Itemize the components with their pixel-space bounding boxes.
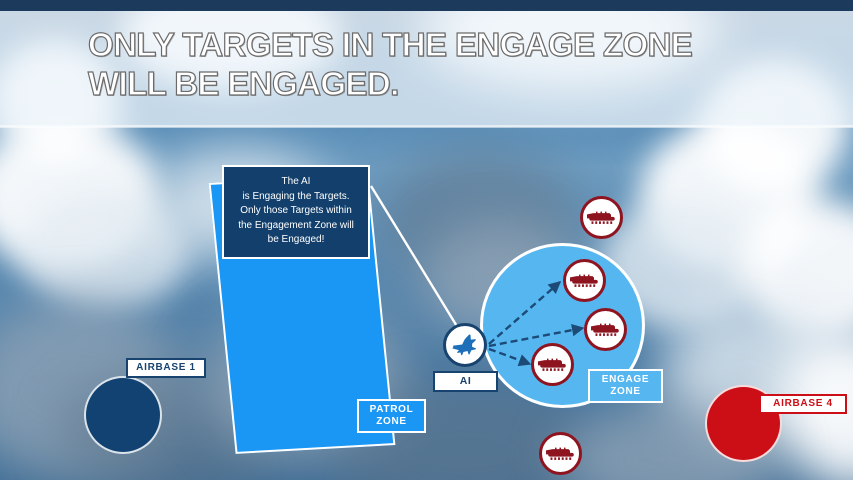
label-airbase-4[interactable]: AIRBASE 4: [759, 394, 847, 414]
title-band-underline: [0, 125, 853, 128]
callout-line-5: be Engaged!: [230, 233, 362, 248]
airbase-1-circle[interactable]: [84, 376, 162, 454]
slide-canvas: The AI is Engaging the Targets. Only tho…: [0, 0, 853, 480]
top-accent-strip: [0, 0, 853, 11]
fighter-jet-icon: [450, 330, 480, 360]
callout-line-3: Only those Targets within: [230, 204, 362, 219]
target-icon-outside-2[interactable]: [539, 432, 582, 475]
label-airbase-1[interactable]: AIRBASE 1: [126, 358, 206, 378]
target-icon-inside-1[interactable]: [563, 259, 606, 302]
target-icon-inside-3[interactable]: [531, 343, 574, 386]
label-engage-zone-line1: ENGAGE: [597, 374, 654, 386]
page-title: ONLY TARGETS IN THE ENGAGE ZONE WILL BE …: [88, 26, 808, 104]
label-patrol-zone-line2: ZONE: [366, 416, 417, 428]
label-engage-zone[interactable]: ENGAGE ZONE: [588, 369, 663, 403]
page-title-line-1: ONLY TARGETS IN THE ENGAGE ZONE: [88, 26, 808, 65]
target-icon-outside-1[interactable]: [580, 196, 623, 239]
ai-callout-box: The AI is Engaging the Targets. Only tho…: [222, 165, 370, 259]
label-patrol-zone-line1: PATROL: [366, 404, 417, 416]
label-ai[interactable]: AI: [433, 371, 498, 392]
page-title-line-2: WILL BE ENGAGED.: [88, 65, 808, 104]
tank-target-icon: [570, 273, 600, 289]
target-icon-inside-2[interactable]: [584, 308, 627, 351]
tank-target-icon: [546, 446, 576, 462]
label-engage-zone-line2: ZONE: [597, 386, 654, 398]
ai-aircraft-node[interactable]: [443, 323, 487, 367]
tank-target-icon: [587, 210, 617, 226]
label-patrol-zone[interactable]: PATROL ZONE: [357, 399, 426, 433]
callout-line-1: The AI: [230, 175, 362, 190]
callout-line-4: the Engagement Zone will: [230, 219, 362, 234]
tank-target-icon: [591, 322, 621, 338]
tank-target-icon: [538, 357, 568, 373]
callout-line-2: is Engaging the Targets.: [230, 190, 362, 205]
